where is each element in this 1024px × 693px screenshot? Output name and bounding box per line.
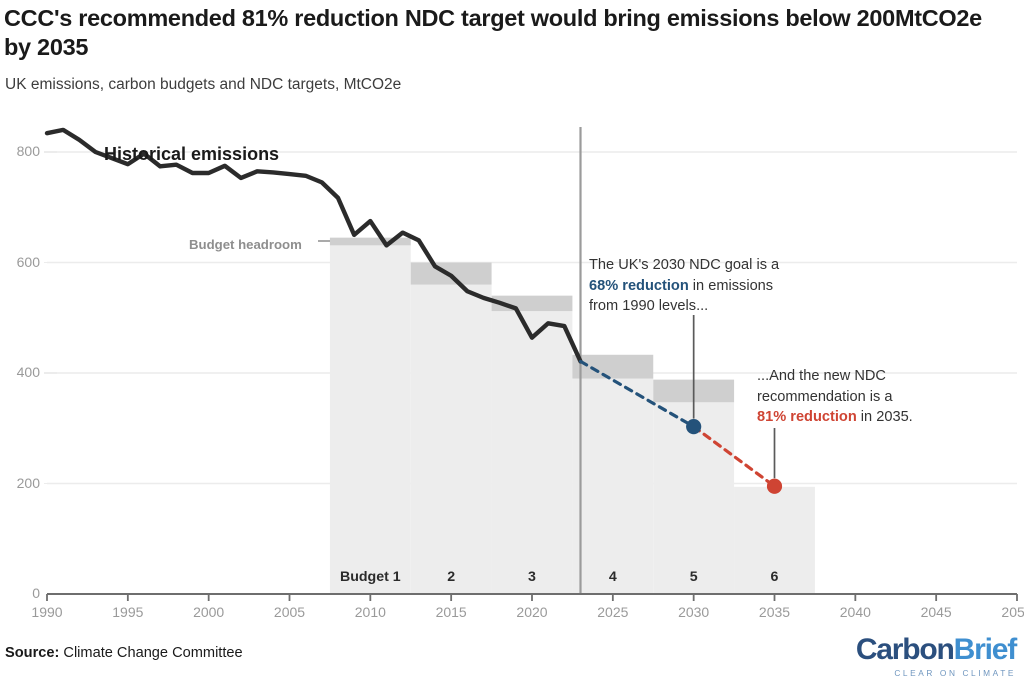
x-axis-tick-1995: 1995 xyxy=(98,604,158,620)
axis-lines xyxy=(47,594,1017,601)
ndc-2030-line1: The UK's 2030 NDC goal is a xyxy=(589,257,779,273)
y-axis-tick-400: 400 xyxy=(0,364,40,380)
source-label: Source: xyxy=(5,645,59,661)
x-axis-tick-2000: 2000 xyxy=(179,604,239,620)
chart-canvas xyxy=(0,0,1024,693)
x-axis-tick-2050: 2050 xyxy=(987,604,1024,620)
y-tick-dash xyxy=(44,483,57,485)
y-axis-tick-200: 200 xyxy=(0,475,40,491)
budget-label-5: 5 xyxy=(653,569,734,585)
x-axis-tick-1990: 1990 xyxy=(17,604,77,620)
y-axis-tick-800: 800 xyxy=(0,143,40,159)
y-axis-tick-0: 0 xyxy=(0,585,40,601)
budget-label-2: 2 xyxy=(411,569,492,585)
x-axis-tick-2040: 2040 xyxy=(825,604,885,620)
logo-carbon-text: Carbon xyxy=(856,633,954,666)
x-axis-tick-2035: 2035 xyxy=(745,604,805,620)
source-value: Climate Change Committee xyxy=(59,645,242,661)
budget-label-3: 3 xyxy=(492,569,573,585)
annotation-ndc-2030: The UK's 2030 NDC goal is a 68% reductio… xyxy=(589,255,779,317)
historical-emissions-label: Historical emissions xyxy=(104,144,279,165)
y-tick-dash xyxy=(44,372,57,374)
logo-wordmark: CarbonBrief xyxy=(856,635,1016,665)
carbonbrief-logo: CarbonBrief CLEAR ON CLIMATE xyxy=(856,635,1016,678)
x-axis-tick-2020: 2020 xyxy=(502,604,562,620)
x-axis-tick-2045: 2045 xyxy=(906,604,966,620)
x-axis-tick-2015: 2015 xyxy=(421,604,481,620)
budget-headroom-label: Budget headroom xyxy=(189,237,302,252)
budget-label-1: Budget 1 xyxy=(330,569,411,585)
y-tick-dash xyxy=(44,151,57,153)
x-axis-tick-2005: 2005 xyxy=(260,604,320,620)
ndc-2030-line3: from 1990 levels... xyxy=(589,298,708,314)
x-axis-tick-2025: 2025 xyxy=(583,604,643,620)
budget-label-4: 4 xyxy=(572,569,653,585)
source-note: Source: Climate Change Committee xyxy=(5,645,243,661)
ndc-2035-highlight: 81% reduction xyxy=(757,409,857,425)
logo-brief-text: Brief xyxy=(954,633,1016,666)
y-axis-tick-600: 600 xyxy=(0,254,40,270)
ndc-2035-line1: ...And the new NDC xyxy=(757,368,886,384)
ndc-2030-line2: in emissions xyxy=(689,278,773,294)
ndc-2035-line2: recommendation is a xyxy=(757,389,892,405)
ndc-2030-highlight: 68% reduction xyxy=(589,278,689,294)
annotation-ndc-2035: ...And the new NDC recommendation is a 8… xyxy=(757,366,913,428)
logo-tagline: CLEAR ON CLIMATE xyxy=(856,668,1016,678)
x-axis-tick-2030: 2030 xyxy=(664,604,724,620)
budget-label-6: 6 xyxy=(734,569,815,585)
ndc-2035-line3: in 2035. xyxy=(857,409,913,425)
x-axis-tick-2010: 2010 xyxy=(340,604,400,620)
y-tick-dash xyxy=(44,262,57,264)
